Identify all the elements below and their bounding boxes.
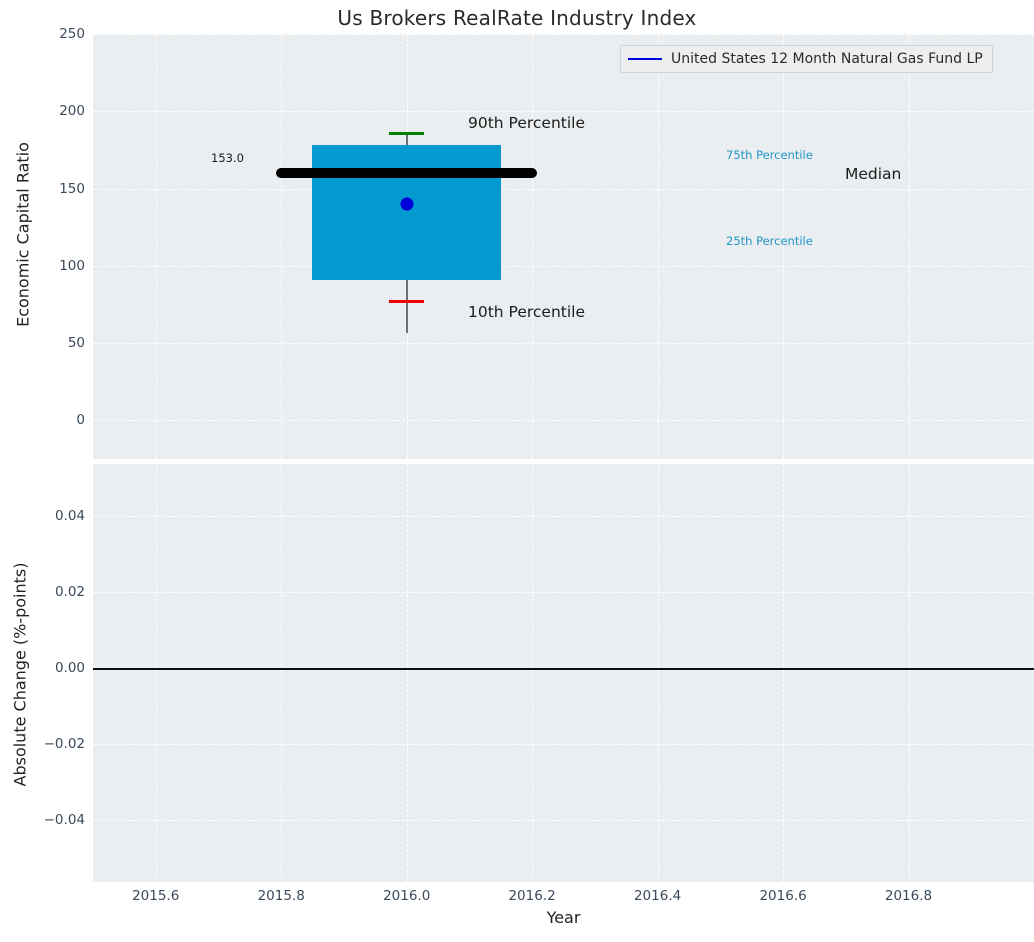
whisker-cap-90th	[389, 132, 424, 135]
gridline-v	[658, 34, 659, 459]
x-tick-label: 2016.0	[362, 888, 452, 904]
annotation-90th-percentile: 90th Percentile	[468, 114, 585, 132]
gridline-v	[281, 464, 282, 882]
gridline-h	[93, 592, 1034, 593]
chart-title: Us Brokers RealRate Industry Index	[0, 6, 1034, 30]
gridline-v	[783, 464, 784, 882]
mean-marker	[400, 198, 413, 211]
panel-absolute-change	[93, 464, 1034, 882]
whisker-cap-10th	[389, 300, 424, 303]
gridline-v	[658, 464, 659, 882]
y-axis-label-top: Economic Capital Ratio	[14, 105, 33, 365]
y-tick-label: 0	[5, 412, 85, 428]
zero-reference-line	[93, 668, 1034, 670]
gridline-v	[909, 464, 910, 882]
x-tick-label: 2016.2	[487, 888, 577, 904]
x-axis-label: Year	[93, 908, 1034, 927]
annotation-25th-percentile: 25th Percentile	[726, 234, 813, 248]
gridline-h	[93, 820, 1034, 821]
annotation-75th-percentile: 75th Percentile	[726, 148, 813, 162]
box-interquartile-range	[312, 145, 501, 280]
x-tick-label: 2015.6	[111, 888, 201, 904]
annotation-10th-percentile: 10th Percentile	[468, 303, 585, 321]
panel-economic-capital-ratio: 90th Percentile 10th Percentile Median 7…	[93, 34, 1034, 459]
annotation-median: Median	[845, 165, 901, 183]
gridline-v	[156, 34, 157, 459]
y-tick-label: 0.04	[5, 508, 85, 524]
gridline-h	[93, 420, 1034, 421]
gridline-v	[407, 464, 408, 882]
gridline-v	[156, 464, 157, 882]
gridline-v	[909, 34, 910, 459]
gridline-h	[93, 744, 1034, 745]
gridline-h	[93, 343, 1034, 344]
gridline-h	[93, 189, 1034, 190]
gridline-v	[532, 464, 533, 882]
chart-figure: Us Brokers RealRate Industry Index 90th …	[0, 0, 1034, 942]
median-bar	[276, 168, 537, 178]
x-tick-label: 2016.4	[613, 888, 703, 904]
gridline-h	[93, 34, 1034, 35]
gridline-h	[93, 266, 1034, 267]
legend-line-swatch-icon	[628, 58, 662, 60]
x-tick-label: 2016.8	[864, 888, 954, 904]
gridline-v	[532, 34, 533, 459]
chart-legend[interactable]: United States 12 Month Natural Gas Fund …	[620, 45, 993, 73]
gridline-h	[93, 111, 1034, 112]
y-axis-label-bottom: Absolute Change (%-points)	[11, 525, 30, 825]
median-value-label: 153.0	[211, 151, 244, 165]
legend-item-label: United States 12 Month Natural Gas Fund …	[671, 51, 983, 67]
x-tick-label: 2015.8	[236, 888, 326, 904]
y-tick-label: 250	[5, 26, 85, 42]
gridline-v	[281, 34, 282, 459]
gridline-h	[93, 516, 1034, 517]
x-tick-label: 2016.6	[738, 888, 828, 904]
